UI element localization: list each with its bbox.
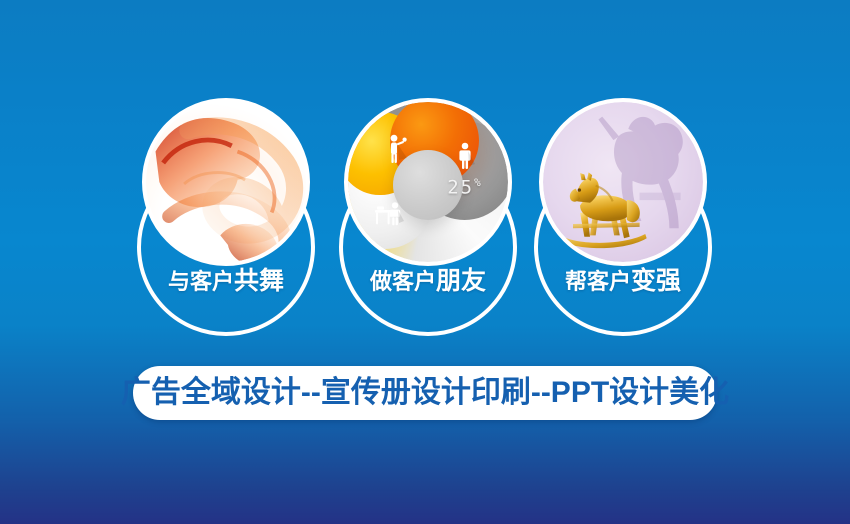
feature-card-help-client-grow-strong[interactable]: 帮客户变强 [534,98,712,338]
card-caption: 做客户朋友 [339,266,517,297]
donut-percent-value: 25 [447,176,474,198]
donut-percent-suffix: % [474,176,481,189]
feature-circle-cluster: 与客户共舞 [0,0,850,524]
card-caption-accent: 朋友 [436,267,486,295]
golden-rocking-horse-icon [543,102,703,262]
poster-canvas: 与客户共舞 [0,0,850,524]
card-caption-lead: 帮客户 [565,269,631,294]
card-caption-accent: 共舞 [234,267,284,295]
rocking-horse-figure-icon [556,169,655,252]
feature-card-be-client-friend[interactable]: 25% 做客户朋友 [339,98,517,338]
card-caption: 与客户共舞 [137,266,315,297]
card-image-bubble: 25% [344,98,512,266]
card-image-bubble [539,98,707,266]
services-banner[interactable]: 广告全域设计--宣传册设计印刷--PPT设计美化 [133,366,717,420]
card-image-bubble [142,98,310,266]
card-caption-lead: 与客户 [168,269,234,294]
donut-chart-percent-label: 25% [447,176,481,198]
feature-card-dance-with-client[interactable]: 与客户共舞 [137,98,315,338]
donut-chart-icon: 25% [348,102,508,262]
person-at-desk-icon [374,201,404,227]
card-caption-lead: 做客户 [370,269,436,294]
card-caption-accent: 变强 [631,267,681,295]
person-standing-icon [457,142,475,170]
services-banner-text: 广告全域设计--宣传册设计印刷--PPT设计美化 [121,378,729,408]
person-presenting-icon [386,134,408,164]
orange-smoke-swirl-icon [146,102,306,262]
card-caption: 帮客户变强 [534,266,712,297]
